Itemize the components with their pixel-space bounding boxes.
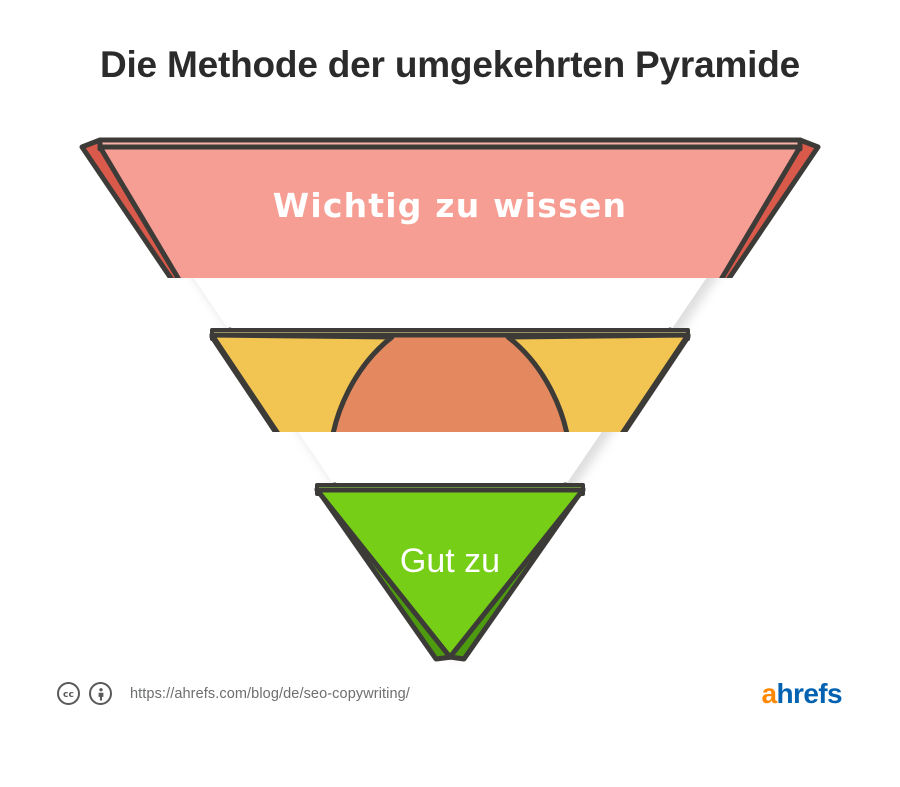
svg-text:cc: cc bbox=[63, 689, 74, 700]
creative-commons-icon: cc bbox=[57, 682, 80, 705]
inverted-pyramid-diagram bbox=[80, 125, 820, 665]
footer: cc https://ahrefs.com/blog/de/seo-copywr… bbox=[0, 664, 900, 754]
ahrefs-logo[interactable]: ahrefs bbox=[762, 680, 842, 708]
ahrefs-logo-accent: a bbox=[762, 678, 777, 709]
source-url[interactable]: https://ahrefs.com/blog/de/seo-copywriti… bbox=[130, 686, 410, 702]
creative-commons-by-icon bbox=[89, 682, 112, 705]
page-title: Die Methode der umgekehrten Pyramide bbox=[0, 44, 900, 86]
pyramid-level-3 bbox=[317, 485, 583, 659]
license-block: cc https://ahrefs.com/blog/de/seo-copywr… bbox=[57, 682, 410, 705]
infographic-canvas: Die Methode der umgekehrten Pyramide bbox=[0, 0, 900, 754]
ahrefs-logo-text: hrefs bbox=[777, 678, 842, 709]
level-3-front-face bbox=[317, 490, 583, 657]
